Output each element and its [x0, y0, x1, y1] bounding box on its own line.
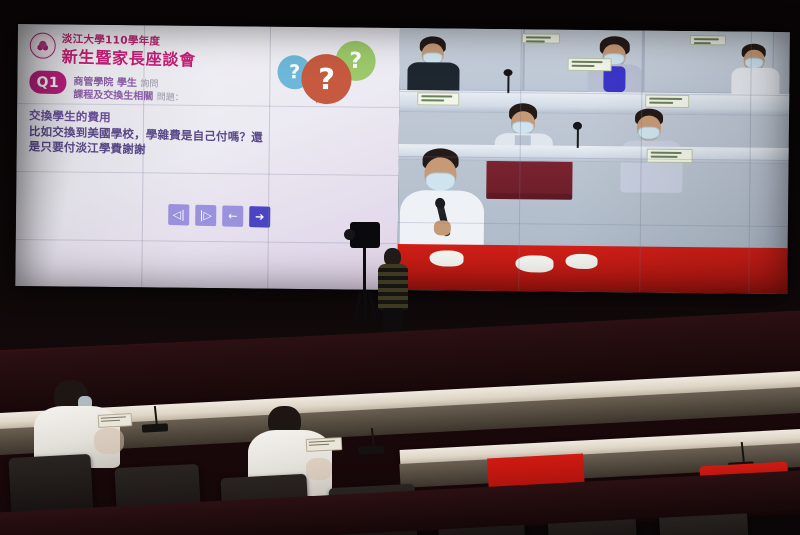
university-crest-icon: [30, 32, 56, 59]
front-microphone-base: [142, 423, 168, 432]
standing-operator: [378, 248, 408, 340]
presentation-slide[interactable]: 淡江大學110學年度 新生暨家長座談會 ? ? ? Q1 商管學院 學生 詢問 …: [15, 24, 400, 290]
question-bubble-red-icon: ?: [301, 53, 352, 104]
nav-previous-button[interactable]: ←: [222, 205, 243, 227]
placard-mid-center: [568, 58, 612, 71]
placard-upper-left: [417, 92, 459, 105]
placard-speaker: [647, 149, 693, 163]
foreground-audience-area: [0, 372, 800, 535]
question-bubbles-group: ? ? ?: [273, 33, 386, 112]
slide-navigation-bar[interactable]: ◁| |▷ ← ➔: [168, 204, 270, 228]
camera-lens-icon: [344, 229, 355, 240]
placard-mid-right: [645, 95, 689, 108]
front-microphone-base: [358, 445, 384, 454]
front-desk-placard-left: [98, 413, 133, 428]
nav-last-button[interactable]: |▷: [195, 205, 216, 227]
nav-next-button[interactable]: ➔: [249, 206, 270, 228]
front-desk-placard-right: [306, 437, 343, 452]
feed-microphone-head: [573, 122, 582, 130]
live-video-feed[interactable]: [397, 28, 790, 294]
slide-title-line2: 新生暨家長座談會: [62, 43, 197, 71]
question-meta-line2-strong: 課程及交換生相關: [73, 89, 153, 102]
question-number-badge: Q1: [29, 70, 66, 94]
placard-top-center: [522, 33, 560, 43]
question-body: 交換學生的費用 比如交換到美國學校，學雜費是自己付嗎？還 是只要付淡江學費謝謝: [29, 108, 386, 164]
nav-first-button[interactable]: ◁|: [168, 204, 189, 226]
question-meta-line2-dim: 問題：: [157, 93, 184, 104]
placard-upper-right: [690, 35, 726, 45]
auditorium-scene: 淡江大學110學年度 新生暨家長座談會 ? ? ? Q1 商管學院 學生 詢問 …: [0, 0, 800, 535]
feed-red-table: [397, 244, 790, 294]
question-meta-line2: 課程及交換生相關 問題：: [73, 85, 184, 103]
